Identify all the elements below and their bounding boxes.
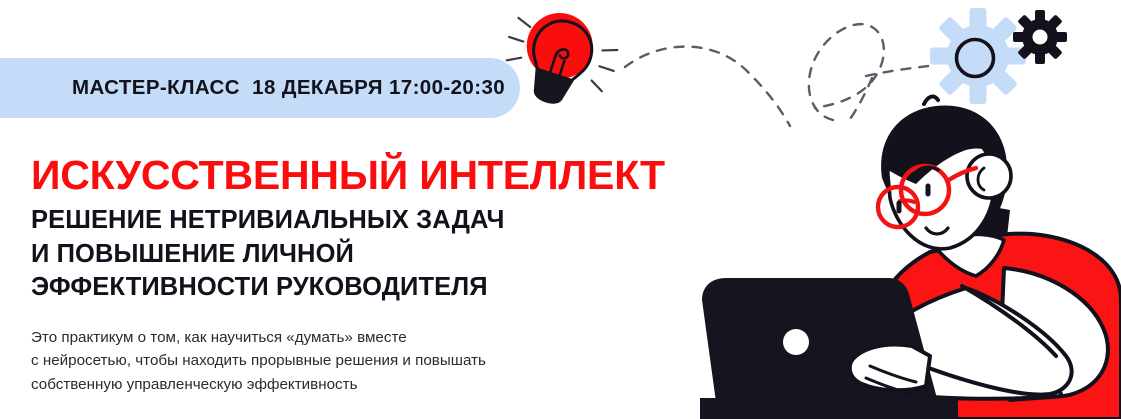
person-hair-fringe xyxy=(885,109,1004,184)
person-ear-inner xyxy=(978,168,984,190)
description-line-3: собственную управленческую эффективность xyxy=(31,373,486,396)
lightbulb-filament-2 xyxy=(559,61,564,76)
person-ear xyxy=(967,154,1011,198)
glasses-lens-right xyxy=(901,166,949,214)
subtitle-line-1: РЕШЕНИЕ НЕТРИВИАЛЬНЫХ ЗАДАЧ xyxy=(31,204,505,238)
person-finger-line-1 xyxy=(870,366,916,382)
glasses-lens-left xyxy=(878,187,918,227)
laptop-lid xyxy=(702,278,938,402)
subtitle-block: РЕШЕНИЕ НЕТРИВИАЛЬНЫХ ЗАДАЧ И ПОВЫШЕНИЕ … xyxy=(31,204,505,305)
gear-icon-large xyxy=(930,8,1026,104)
lightbulb-glass xyxy=(527,14,599,84)
laptop-base xyxy=(700,398,958,419)
page-title: ИСКУССТВЕННЫЙ ИНТЕЛЛЕКТ xyxy=(31,155,665,197)
person-shirt xyxy=(866,234,1121,419)
person-hand xyxy=(850,344,930,390)
dashed-loop-tail xyxy=(866,66,928,76)
person-hair-tuft xyxy=(924,97,938,104)
person-sleeve-seam xyxy=(962,286,1056,356)
subtitle-line-3: ЭФФЕКТИВНОСТИ РУКОВОДИТЕЛЯ xyxy=(31,271,505,305)
subtitle-line-2: И ПОВЫШЕНИЕ ЛИЧНОЙ xyxy=(31,238,505,272)
description-line-2: с нейросетью, чтобы находить прорывные р… xyxy=(31,349,486,372)
lightbulb-glow xyxy=(518,4,601,87)
laptop-logo-icon xyxy=(783,329,809,355)
person-arm-far xyxy=(1000,268,1108,400)
dashed-loop-decoration xyxy=(809,24,884,120)
person-collar xyxy=(936,234,1004,276)
description-block: Это практикум о том, как научиться «дума… xyxy=(31,326,486,396)
person-hair xyxy=(881,105,1007,222)
lightbulb-filament xyxy=(550,47,570,76)
lightbulb-rays xyxy=(502,17,620,93)
person-arm-near xyxy=(886,288,1072,395)
dashed-arc-decoration xyxy=(625,47,790,126)
glasses-bridge xyxy=(900,200,914,202)
dashed-loop-drop xyxy=(848,78,872,122)
gear-icon-small xyxy=(1013,10,1067,64)
person-eyebrow xyxy=(916,167,938,172)
person-finger-line-2 xyxy=(866,378,912,394)
person-face xyxy=(888,126,994,249)
person-smile xyxy=(926,228,948,234)
person-neck-shadow xyxy=(930,200,1010,300)
glasses-temple xyxy=(947,168,976,181)
description-line-1: Это практикум о том, как научиться «дума… xyxy=(31,326,486,349)
promo-banner: МАСТЕР-КЛАСС 18 ДЕКАБРЯ 17:00-20:30 xyxy=(0,0,1121,419)
person-forearm xyxy=(861,344,1062,399)
lightbulb-base xyxy=(527,69,574,109)
date-pill-label: МАСТЕР-КЛАСС 18 ДЕКАБРЯ 17:00-20:30 xyxy=(72,58,505,118)
